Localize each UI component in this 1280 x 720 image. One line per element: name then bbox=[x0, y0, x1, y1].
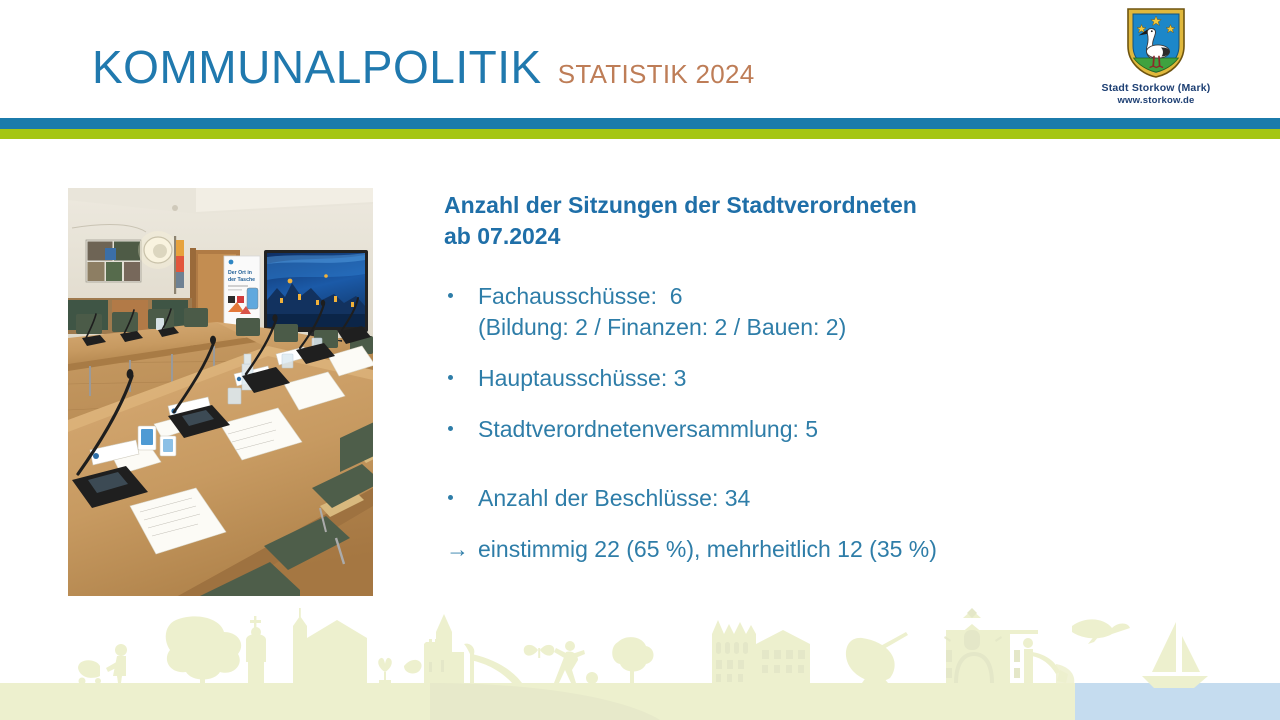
list-item: Stadtverordnetenversammlung: 5 bbox=[444, 414, 1144, 444]
bullet-main-text: Anzahl der Beschlüsse: 34 bbox=[478, 485, 750, 511]
city-silhouette-band bbox=[0, 592, 1280, 720]
council-chamber-photo: Der Ort in der Tasche bbox=[68, 188, 373, 596]
bullet-dot-icon bbox=[448, 293, 453, 298]
council-chamber-illustration: Der Ort in der Tasche bbox=[68, 188, 373, 596]
woman-with-stroller-icon bbox=[78, 644, 127, 685]
tree-icon bbox=[612, 637, 653, 683]
title-subtitle: STATISTIK 2024 bbox=[558, 61, 755, 87]
vote-breakdown-text: einstimmig 22 (65 %), mehrheitlich 12 (3… bbox=[478, 536, 937, 562]
content-heading: Anzahl der Sitzungen der Stadtverordnete… bbox=[444, 190, 1144, 251]
bullet-sub-text: (Bildung: 2 / Finanzen: 2 / Bauen: 2) bbox=[478, 312, 1144, 342]
list-item: Hauptausschüsse: 3 bbox=[444, 363, 1144, 393]
wall-photo-collage bbox=[86, 240, 141, 282]
city-logo: Stadt Storkow (Mark) www.storkow.de bbox=[1076, 6, 1236, 106]
slide-header: KOMMUNALPOLITIK STATISTIK 2024 bbox=[0, 0, 1280, 118]
accent-band-blue bbox=[0, 118, 1280, 129]
historic-townhouse-icon bbox=[712, 620, 810, 683]
running-child-with-ball-icon bbox=[554, 641, 598, 684]
castle-tower-icon bbox=[424, 614, 464, 683]
silhouette-group bbox=[78, 608, 1208, 696]
content-heading-line1: Anzahl der Sitzungen der Stadtverordnete… bbox=[444, 192, 917, 218]
bird-icon bbox=[1072, 619, 1130, 644]
logo-city-name: Stadt Storkow (Mark) bbox=[1076, 82, 1236, 94]
water-area bbox=[1075, 683, 1280, 720]
slide-content: Anzahl der Sitzungen der Stadtverordnete… bbox=[444, 190, 1144, 564]
bullet-dot-icon bbox=[448, 426, 453, 431]
title-main: KOMMUNALPOLITIK bbox=[92, 44, 542, 90]
statistics-bullet-list: Fachausschüsse: 6 (Bildung: 2 / Finanzen… bbox=[444, 281, 1144, 513]
svg-text:Der Ort in: Der Ort in bbox=[228, 270, 252, 276]
bullet-dot-icon bbox=[448, 375, 453, 380]
storkow-coat-of-arms-stork-icon bbox=[1125, 6, 1187, 80]
plant-icon bbox=[378, 658, 392, 684]
footer-decoration bbox=[0, 592, 1280, 720]
church-icon bbox=[293, 608, 367, 683]
bullet-main-text: Fachausschüsse: 6 bbox=[478, 283, 683, 309]
slide: KOMMUNALPOLITIK STATISTIK 2024 bbox=[0, 0, 1280, 720]
page-title: KOMMUNALPOLITIK STATISTIK 2024 bbox=[92, 44, 755, 90]
content-heading-line2: ab 07.2024 bbox=[444, 223, 560, 249]
statue-icon bbox=[246, 616, 266, 683]
butterfly-icon bbox=[524, 645, 555, 658]
vote-breakdown-line: → einstimmig 22 (65 %), mehrheitlich 12 … bbox=[444, 534, 1144, 564]
list-item: Fachausschüsse: 6 (Bildung: 2 / Finanzen… bbox=[444, 281, 1144, 342]
bullet-main-text: Hauptausschüsse: 3 bbox=[478, 365, 686, 391]
satellite-dish-icon bbox=[846, 632, 908, 683]
flag bbox=[174, 236, 184, 294]
accent-band-green bbox=[0, 129, 1280, 139]
bullet-dot-icon bbox=[448, 495, 453, 500]
svg-text:der Tasche: der Tasche bbox=[228, 277, 255, 283]
list-item: Anzahl der Beschlüsse: 34 bbox=[444, 483, 1144, 513]
wall-lamp bbox=[138, 231, 178, 269]
logo-website-url: www.storkow.de bbox=[1076, 95, 1236, 106]
bullet-main-text: Stadtverordnetenversammlung: 5 bbox=[478, 416, 818, 442]
arrow-right-icon: → bbox=[446, 534, 469, 564]
sailboat-icon bbox=[1142, 622, 1208, 688]
tree-icon bbox=[166, 616, 241, 683]
